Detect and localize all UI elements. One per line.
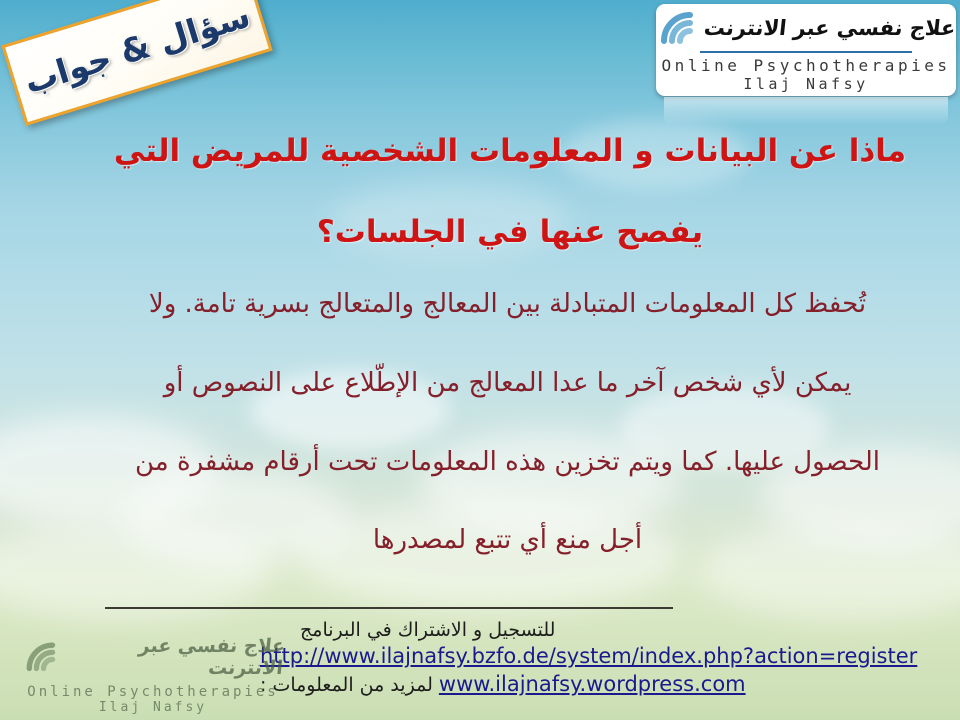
logo-reflection [664,97,948,125]
logo-arabic-text: علاج نفسي عبر الانترنت [703,16,956,40]
body-paragraph: تُحفظ كل المعلومات المتبادلة بين المعالج… [55,288,960,558]
logo-watermark-arabic-row: علاج نفسي عبر الانترنت [22,635,284,679]
footer-register-link-row: http://www.ilajnafsy.bzfo.de/system/inde… [260,643,960,671]
footer-block: للتسجيل و الاشتراك في البرنامج http://ww… [260,618,960,699]
body-line-3: الحصول عليها. كما ويتم تخزين هذه المعلوم… [55,446,960,480]
title-line-2: يفصح عنها في الجلسات؟ [60,213,960,252]
wifi-signal-icon [656,7,696,49]
logo-english-line1: Online Psychotherapies [662,56,951,75]
page-title: ماذا عن البيانات و المعلومات الشخصية للم… [60,132,960,252]
footer-more-info-label: لمزيد من المعلومات : [260,674,433,696]
body-line-4: أجل منع أي تتبع لمصدرها [55,524,960,558]
body-line-1: تُحفظ كل المعلومات المتبادلة بين المعالج… [55,288,960,322]
logo-divider [700,51,912,53]
wifi-signal-icon [22,638,58,676]
qa-banner-label: سؤال & جواب [20,0,255,101]
logo-watermark-english-line2: Ilaj Nafsy [99,700,207,715]
info-url-link[interactable]: www.ilajnafsy.wordpress.com [439,671,746,699]
body-line-2: يمكن لأي شخص آخر ما عدا المعالج من الإطّ… [55,367,960,401]
footer-info-row: www.ilajnafsy.wordpress.com لمزيد من الم… [260,671,960,699]
logo-watermark-bottom: علاج نفسي عبر الانترنت Online Psychother… [22,636,284,714]
footer-divider [105,607,673,609]
logo-card-top[interactable]: علاج نفسي عبر الانترنت Online Psychother… [656,4,956,96]
slide-canvas: سؤال & جواب علاج نفسي عبر الانترنت Onlin… [0,0,960,720]
logo-arabic-row: علاج نفسي عبر الانترنت [656,7,956,49]
logo-watermark-arabic-text: علاج نفسي عبر الانترنت [64,635,287,679]
logo-watermark-english-line1: Online Psychotherapies [27,684,278,700]
question-answer-banner: سؤال & جواب [1,0,272,126]
footer-register-label: للتسجيل و الاشتراك في البرنامج [260,618,960,643]
logo-english-line2: Ilaj Nafsy [743,75,868,93]
register-url-link[interactable]: http://www.ilajnafsy.bzfo.de/system/inde… [260,643,917,671]
title-line-1: ماذا عن البيانات و المعلومات الشخصية للم… [60,132,960,171]
